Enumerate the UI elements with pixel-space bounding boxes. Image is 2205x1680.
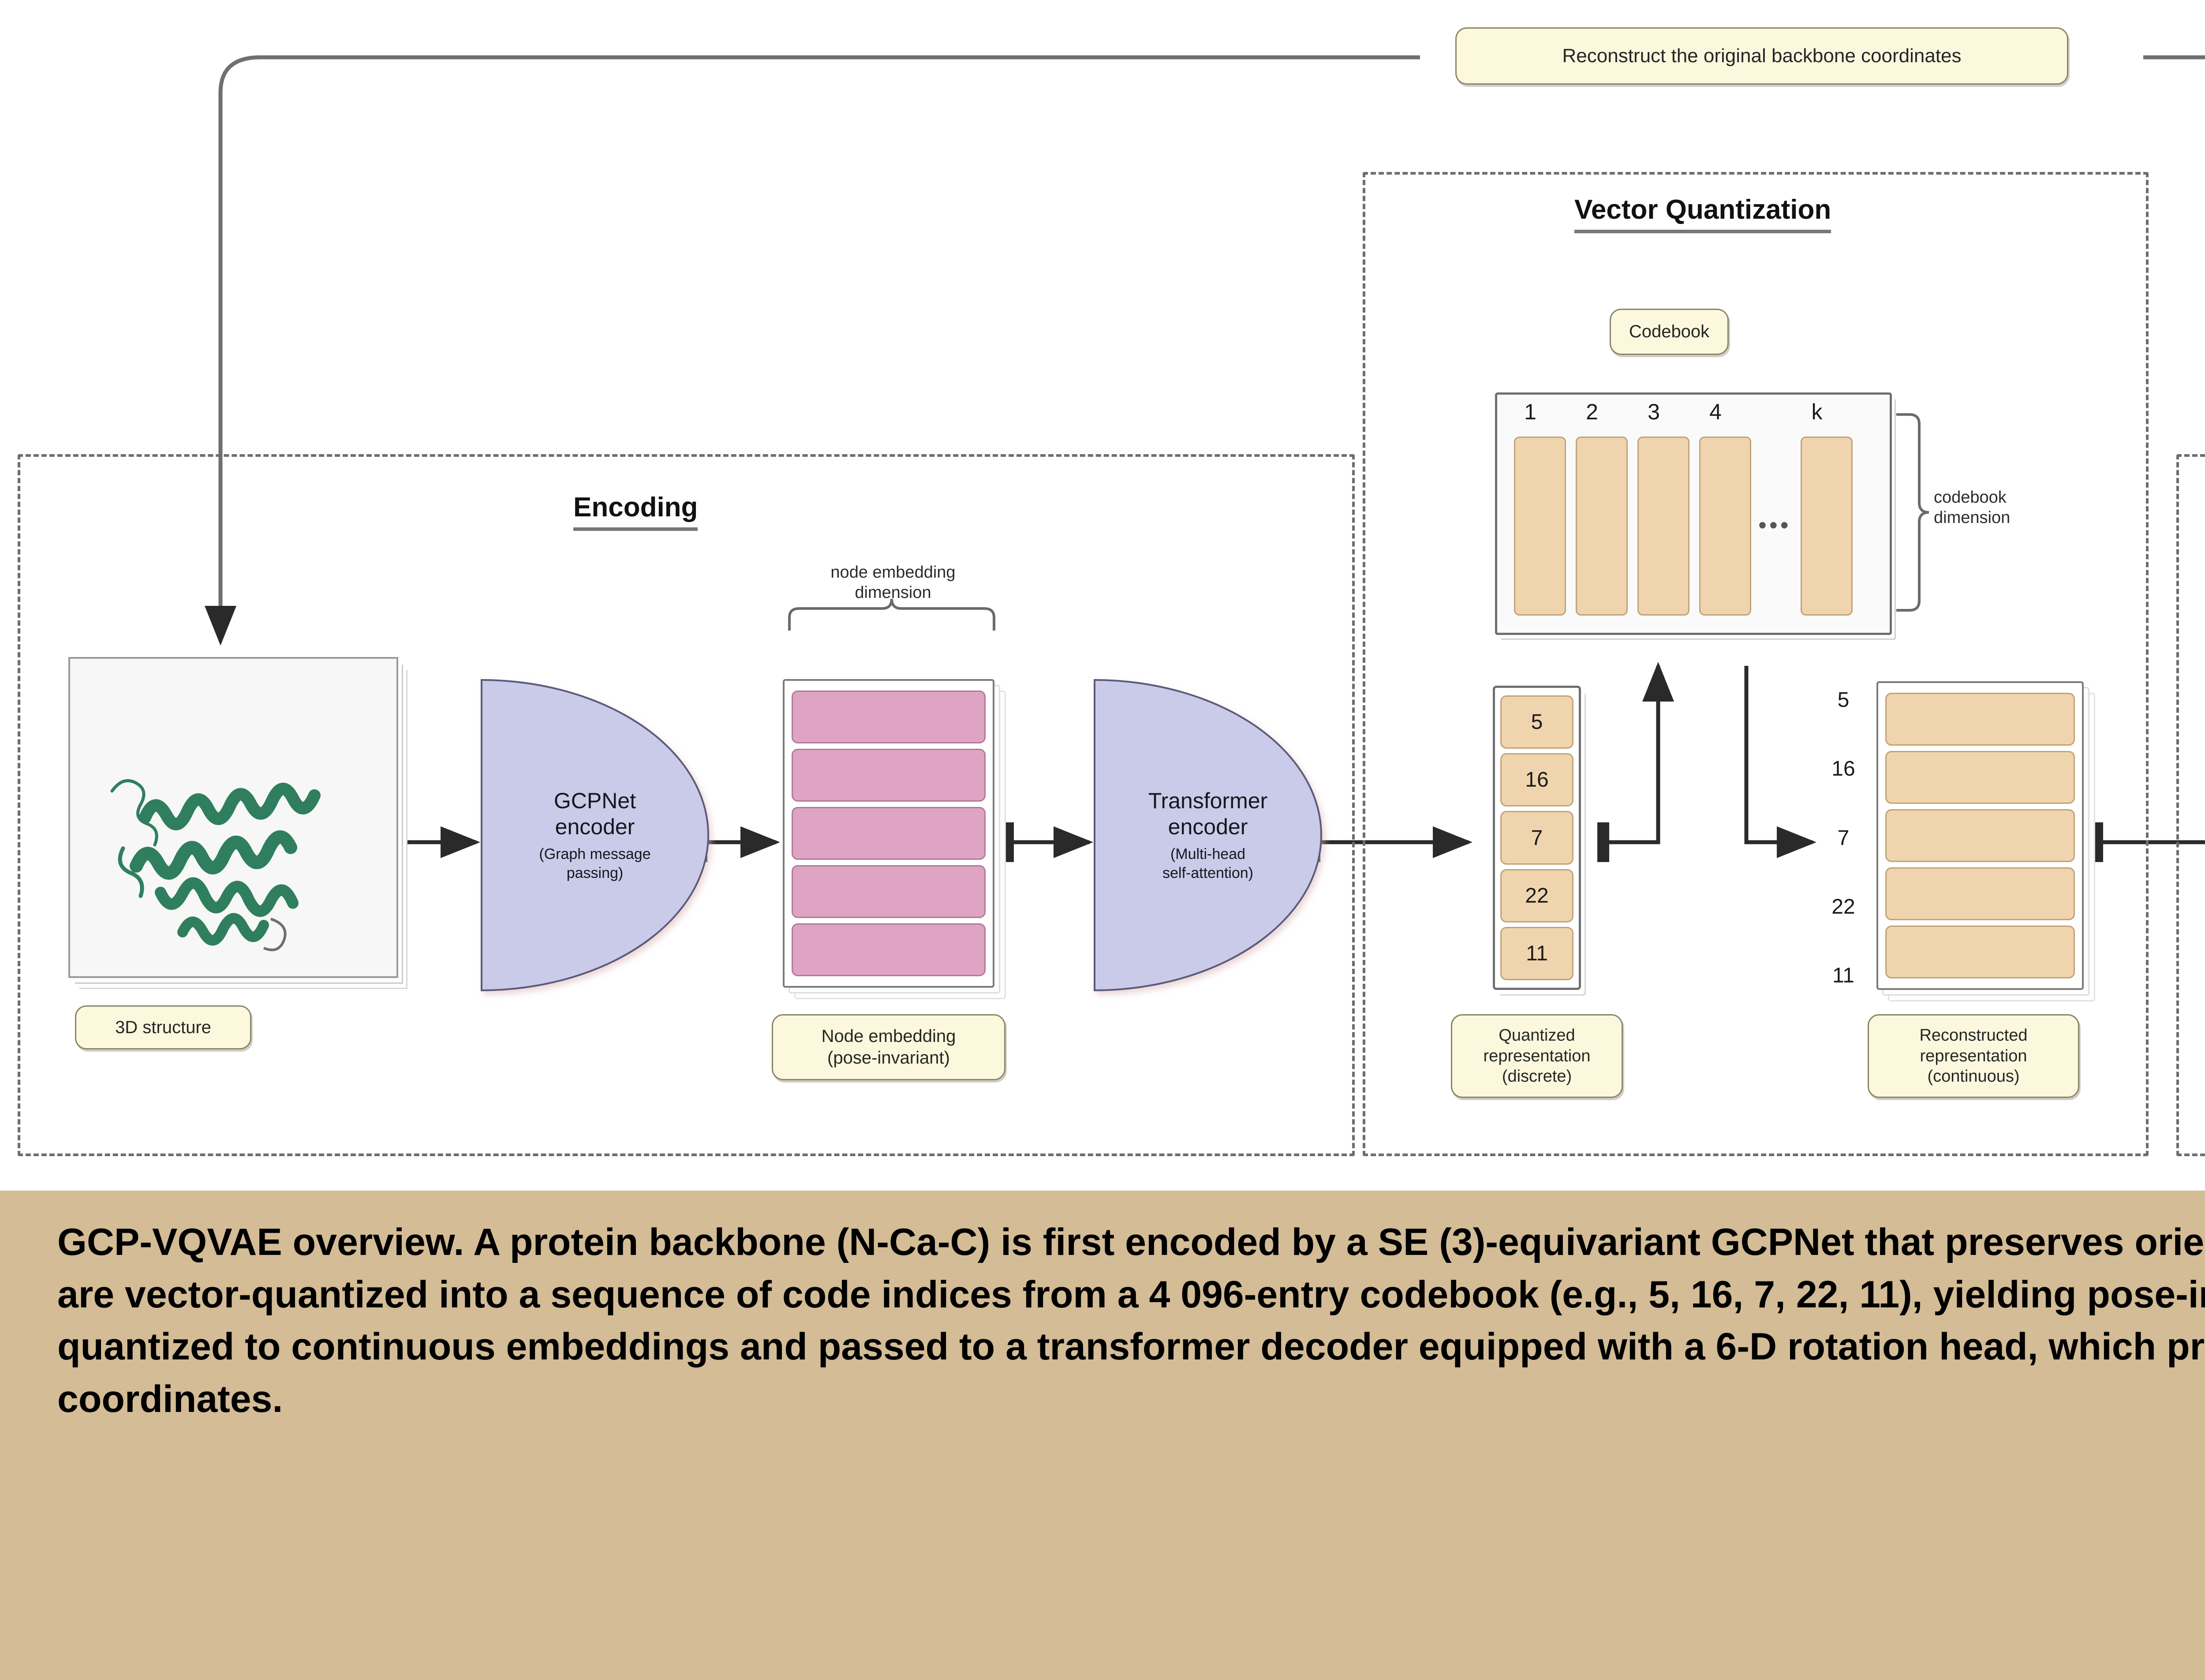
reconstructed-representation-stack xyxy=(1876,681,2084,990)
input-3d-structure-caption: 3D structure xyxy=(75,1005,251,1049)
quantized-token: 16 xyxy=(1500,753,1573,806)
quantized-token-column: 5 16 7 22 11 xyxy=(1493,686,1581,990)
vector-quantization-section-box xyxy=(1363,172,2149,1156)
node-embedding-dim-line1: node embedding xyxy=(767,562,1019,582)
reconstructed-index: 5 xyxy=(1838,688,1850,712)
codebook-column-label: 3 xyxy=(1629,399,1678,425)
codebook-dim-line1: codebook xyxy=(1934,487,2101,508)
decoding-section-box xyxy=(2176,454,2205,1156)
codebook-vector-column xyxy=(1801,437,1853,616)
gcpnet-encoder-line1: GCPNet xyxy=(554,788,636,814)
codebook-ellipsis: ••• xyxy=(1758,511,1791,539)
reconstructed-index: 22 xyxy=(1831,895,1855,919)
gcpnet-encoder-sub1: (Graph message xyxy=(539,845,650,863)
reconstructed-caption-line1: Reconstructed xyxy=(1919,1025,2027,1045)
reconstructed-row xyxy=(1885,693,2075,746)
codebook-vector-column xyxy=(1576,437,1628,616)
reconstructed-index: 16 xyxy=(1831,757,1855,781)
reconstructed-caption-line2: representation xyxy=(1920,1046,2027,1066)
transformer-encoder-sub2: self-attention) xyxy=(1162,864,1253,882)
quantized-caption-line2: representation xyxy=(1484,1046,1591,1066)
quantized-caption-line1: Quantized xyxy=(1499,1025,1575,1045)
reconstructed-row xyxy=(1885,867,2075,920)
figure-canvas: Reconstruct the original backbone coordi… xyxy=(0,0,2205,1680)
codebook-vector-column xyxy=(1699,437,1751,616)
quantized-token: 5 xyxy=(1500,695,1573,749)
node-embedding-row xyxy=(792,807,986,860)
codebook-dim-line2: dimension xyxy=(1934,508,2101,528)
codebook-column-label: 1 xyxy=(1506,399,1555,425)
vector-quantization-section-title: Vector Quantization xyxy=(1574,194,1831,233)
gcpnet-encoder-sub2: passing) xyxy=(567,864,624,882)
transformer-encoder-line2: encoder xyxy=(1168,814,1248,840)
reconstructed-representation-caption: Reconstructed representation (continuous… xyxy=(1868,1014,2079,1098)
figure-caption-bar: GCP-VQVAE overview. A protein backbone (… xyxy=(0,1191,2205,1680)
codebook-column-label: 2 xyxy=(1568,399,1616,425)
codebook-dimension-label: codebook dimension xyxy=(1934,487,2101,528)
quantized-token: 11 xyxy=(1500,927,1573,980)
quantized-token: 7 xyxy=(1500,811,1573,864)
reconstructed-row xyxy=(1885,751,2075,804)
reconstructed-row xyxy=(1885,926,2075,978)
node-embedding-caption: Node embedding (pose-invariant) xyxy=(772,1014,1005,1080)
encoding-section-title: Encoding xyxy=(573,492,698,531)
node-embedding-caption-line1: Node embedding xyxy=(822,1026,956,1047)
codebook-column-label: 4 xyxy=(1691,399,1740,425)
node-embedding-row xyxy=(792,749,986,802)
reconstructed-caption-line3: (continuous) xyxy=(1927,1066,2019,1086)
feedback-loop-label: Reconstruct the original backbone coordi… xyxy=(1455,27,2068,85)
node-embedding-dim-line2: dimension xyxy=(767,582,1019,603)
node-embedding-row xyxy=(792,865,986,918)
reconstructed-index: 7 xyxy=(1838,826,1850,850)
reconstructed-index: 11 xyxy=(1832,963,1854,988)
node-embedding-stack xyxy=(783,679,994,988)
quantized-caption-line3: (discrete) xyxy=(1502,1066,1572,1086)
codebook-vector-column xyxy=(1637,437,1689,616)
transformer-encoder-sub1: (Multi-head xyxy=(1170,845,1245,863)
transformer-encoder-line1: Transformer xyxy=(1148,788,1267,814)
reconstructed-row xyxy=(1885,809,2075,862)
protein-ribbon-input-icon xyxy=(70,659,396,976)
node-embedding-caption-line2: (pose-invariant) xyxy=(827,1047,950,1069)
quantized-token: 22 xyxy=(1500,869,1573,922)
node-embedding-stack-front xyxy=(783,679,994,988)
codebook-vector-column xyxy=(1514,437,1566,616)
codebook-matrix: 1 2 3 4 k ••• xyxy=(1495,392,1892,635)
node-embedding-dimension-label: node embedding dimension xyxy=(767,562,1019,603)
quantized-representation-caption: Quantized representation (discrete) xyxy=(1451,1014,1623,1098)
reconstructed-index-list: 5 16 7 22 11 xyxy=(1813,688,1874,988)
gcpnet-encoder-line2: encoder xyxy=(555,814,635,840)
codebook-column-label: k xyxy=(1793,399,1841,425)
reconstructed-stack-front xyxy=(1876,681,2084,990)
input-3d-structure-card xyxy=(68,657,398,978)
figure-caption-text: GCP-VQVAE overview. A protein backbone (… xyxy=(57,1216,2205,1426)
node-embedding-row xyxy=(792,923,986,976)
codebook-chip: Codebook xyxy=(1610,309,1729,355)
node-embedding-row xyxy=(792,691,986,743)
